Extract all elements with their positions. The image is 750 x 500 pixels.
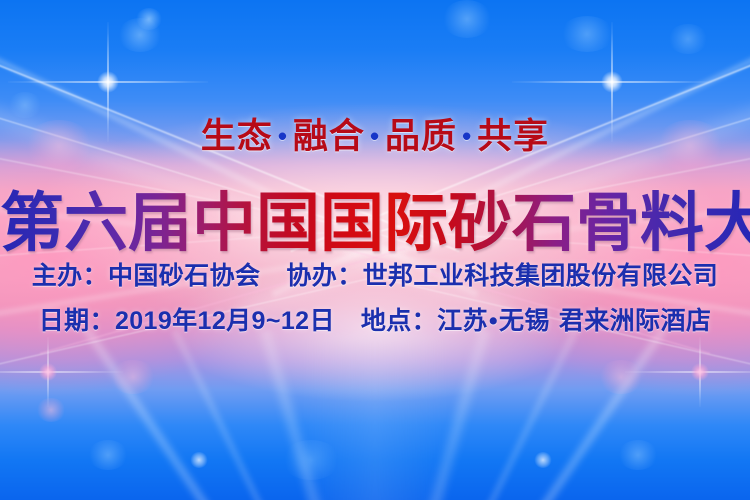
event-poster: 生态•融合•品质•共享 第六届中国国际砂石骨料大会 第六届中国国际砂石骨料大会 … xyxy=(0,0,750,500)
date-value: 2019年12月9~12日 xyxy=(115,307,335,335)
poster-subtitle: 生态•融合•品质•共享 xyxy=(0,108,750,159)
place-venue: 君来洲际酒店 xyxy=(559,307,711,335)
subtitle-word-1: 生态 xyxy=(201,117,273,156)
date-label: 日期： xyxy=(39,307,115,335)
cohost-label: 协办： xyxy=(286,262,362,290)
host-label: 主办： xyxy=(32,262,108,290)
host-name: 中国砂石协会 xyxy=(108,262,260,290)
subtitle-separator: • xyxy=(365,121,385,151)
subtitle-word-2: 融合 xyxy=(293,117,365,156)
place-city: 无锡 xyxy=(499,307,550,335)
subtitle-separator: • xyxy=(273,121,293,151)
subtitle-separator: • xyxy=(457,121,477,151)
poster-content: 生态•融合•品质•共享 第六届中国国际砂石骨料大会 第六届中国国际砂石骨料大会 … xyxy=(0,0,750,500)
poster-headline: 第六届中国国际砂石骨料大会 xyxy=(0,172,750,264)
organizer-line: 主办：中国砂石协会协办：世邦工业科技集团股份有限公司 xyxy=(0,256,750,292)
subtitle-word-4: 共享 xyxy=(477,117,549,156)
cohost-name: 世邦工业科技集团股份有限公司 xyxy=(363,262,719,290)
detail-line: 日期：2019年12月9~12日地点：江苏•无锡君来洲际酒店 xyxy=(0,301,750,337)
place-separator: • xyxy=(488,307,499,335)
subtitle-word-3: 品质 xyxy=(385,117,457,156)
place-province: 江苏 xyxy=(437,307,488,335)
place-label: 地点： xyxy=(361,307,437,335)
